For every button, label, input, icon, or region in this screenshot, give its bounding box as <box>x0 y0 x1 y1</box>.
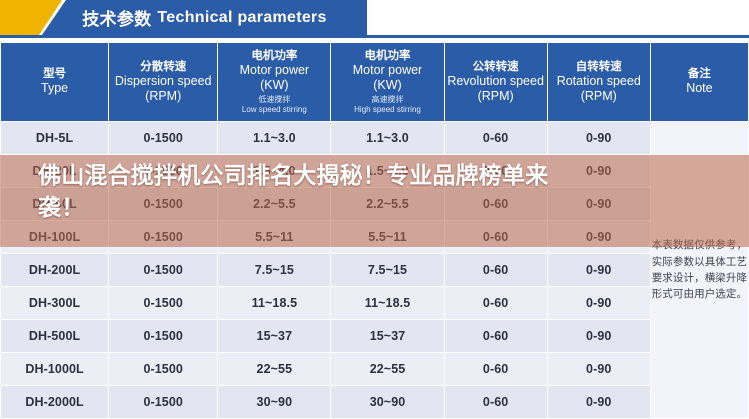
row-cell-motor-power-low: 7.5~15 <box>218 254 330 286</box>
row-cell-type: DH-200L <box>1 254 108 286</box>
row-cell-rotation: 0-90 <box>548 320 650 352</box>
row-cell-revolution: 0-60 <box>445 320 547 352</box>
row-cell-motor-power-low: 5.5~11 <box>218 221 330 253</box>
col-header-revolution-en: Revolution speed <box>445 74 547 89</box>
col-header-type-cn: 型号 <box>1 68 108 81</box>
col-header-note-en: Note <box>651 81 748 96</box>
col-header-dispersion-en: Dispersion speed <box>109 74 217 89</box>
row-cell-rotation: 0-90 <box>548 122 650 154</box>
col-header-motor-power-low-sub-en: Low speed stirring <box>218 105 330 114</box>
row-cell-type: DH-100L <box>1 221 108 253</box>
col-header-dispersion-unit: (RPM) <box>109 89 217 104</box>
col-header-type: 型号 Type <box>1 43 108 121</box>
row-cell-motor-power-high: 15~37 <box>331 320 443 352</box>
row-cell-revolution: 0-60 <box>445 386 547 418</box>
row-cell-revolution: 0-60 <box>445 122 547 154</box>
col-header-rotation-unit: (RPM) <box>548 89 650 104</box>
table-row: DH-500L0-150015~3715~370-600-90 <box>1 320 748 352</box>
col-header-rotation-cn: 自转转速 <box>548 61 650 74</box>
banner-blank-area <box>367 0 749 35</box>
row-cell-rotation: 0-90 <box>548 221 650 253</box>
col-header-motor-power-high-sub-en: High speed stirring <box>331 105 443 114</box>
row-cell-dispersion: 0-1500 <box>109 254 217 286</box>
col-header-rotation: 自转转速 Rotation speed (RPM) <box>548 43 650 121</box>
col-header-revolution-cn: 公转转速 <box>445 61 547 74</box>
row-cell-type: DH-300L <box>1 287 108 319</box>
row-cell-motor-power-low: 22~55 <box>218 353 330 385</box>
col-header-motor-power-high-sub-cn: 高速搅拌 <box>331 95 443 104</box>
col-header-revolution: 公转转速 Revolution speed (RPM) <box>445 43 547 121</box>
row-cell-motor-power-low: 11~18.5 <box>218 287 330 319</box>
col-header-motor-power-low-unit: (KW) <box>218 78 330 93</box>
row-cell-motor-power-low: 30~90 <box>218 386 330 418</box>
table-row: DH-2000L0-150030~9030~900-600-90 <box>1 386 748 418</box>
col-header-revolution-unit: (RPM) <box>445 89 547 104</box>
row-cell-dispersion: 0-1500 <box>109 353 217 385</box>
col-header-dispersion-cn: 分散转速 <box>109 61 217 74</box>
parameters-table-wrap: 型号 Type 分散转速 Dispersion speed (RPM) 电机功率… <box>0 42 749 419</box>
section-banner: 技术参数 Technical parameters <box>0 0 749 35</box>
row-cell-motor-power-high: 22~55 <box>331 353 443 385</box>
row-cell-revolution: 0-60 <box>445 353 547 385</box>
row-cell-rotation: 0-90 <box>548 254 650 286</box>
row-cell-dispersion: 0-1500 <box>109 320 217 352</box>
row-cell-revolution: 0-60 <box>445 287 547 319</box>
table-row: DH-300L0-150011~18.511~18.50-600-90 <box>1 287 748 319</box>
row-cell-motor-power-high: 5.5~11 <box>331 221 443 253</box>
row-cell-rotation: 0-90 <box>548 353 650 385</box>
parameters-table: 型号 Type 分散转速 Dispersion speed (RPM) 电机功率… <box>0 42 749 419</box>
row-cell-dispersion: 0-1500 <box>109 287 217 319</box>
row-cell-rotation: 0-90 <box>548 287 650 319</box>
banner-title: 技术参数 Technical parameters <box>42 0 367 35</box>
row-cell-type: DH-500L <box>1 320 108 352</box>
col-header-motor-power-high-unit: (KW) <box>331 78 443 93</box>
table-row: DH-200L0-15007.5~157.5~150-600-90 <box>1 254 748 286</box>
promo-overlay-line2: 袭！ <box>38 194 84 220</box>
col-header-motor-power-low: 电机功率 Motor power (KW) 低速搅拌 Low speed sti… <box>218 43 330 121</box>
table-header: 型号 Type 分散转速 Dispersion speed (RPM) 电机功率… <box>1 43 748 121</box>
row-cell-dispersion: 0-1500 <box>109 386 217 418</box>
banner-underline <box>0 35 749 38</box>
row-cell-motor-power-high: 7.5~15 <box>331 254 443 286</box>
banner-blue-plate: 技术参数 Technical parameters <box>42 0 367 35</box>
table-row: DH-100L0-15005.5~115.5~110-600-90 <box>1 221 748 253</box>
row-cell-rotation: 0-90 <box>548 386 650 418</box>
row-cell-type: DH-2000L <box>1 386 108 418</box>
col-header-type-en: Type <box>1 81 108 96</box>
col-header-motor-power-low-cn: 电机功率 <box>218 50 330 63</box>
banner-title-cn: 技术参数 <box>82 5 151 30</box>
page-root: 技术参数 Technical parameters 型号 Type 分散转速 <box>0 0 749 400</box>
col-header-motor-power-low-sub-cn: 低速搅拌 <box>218 95 330 104</box>
row-cell-motor-power-low: 15~37 <box>218 320 330 352</box>
table-row: DH-5L0-15001.1~3.01.1~3.00-600-90本表数据仅供参… <box>1 122 748 154</box>
row-cell-motor-power-high: 1.1~3.0 <box>331 122 443 154</box>
col-header-motor-power-high-en: Motor power <box>331 63 443 78</box>
col-header-rotation-en: Rotation speed <box>548 74 650 89</box>
col-header-motor-power-high: 电机功率 Motor power (KW) 高速搅拌 High speed st… <box>331 43 443 121</box>
col-header-motor-power-high-cn: 电机功率 <box>331 50 443 63</box>
row-cell-type: DH-1000L <box>1 353 108 385</box>
col-header-note: 备注 Note <box>651 43 748 121</box>
row-cell-type: DH-5L <box>1 122 108 154</box>
row-cell-motor-power-high: 11~18.5 <box>331 287 443 319</box>
promo-overlay-line1: 佛山混合搅拌机公司排名大揭秘！专业品牌榜单来 <box>38 162 548 188</box>
banner-title-en: Technical parameters <box>157 9 326 27</box>
row-cell-dispersion: 0-1500 <box>109 221 217 253</box>
row-cell-revolution: 0-60 <box>445 254 547 286</box>
row-cell-dispersion: 0-1500 <box>109 122 217 154</box>
col-header-motor-power-low-en: Motor power <box>218 63 330 78</box>
table-row: DH-1000L0-150022~5522~550-600-90 <box>1 353 748 385</box>
row-cell-revolution: 0-60 <box>445 221 547 253</box>
col-header-note-cn: 备注 <box>651 68 748 81</box>
col-header-dispersion: 分散转速 Dispersion speed (RPM) <box>109 43 217 121</box>
promo-overlay-text: 佛山混合搅拌机公司排名大揭秘！专业品牌榜单来 袭！ <box>0 160 749 223</box>
row-cell-motor-power-low: 1.1~3.0 <box>218 122 330 154</box>
table-header-row: 型号 Type 分散转速 Dispersion speed (RPM) 电机功率… <box>1 43 748 121</box>
row-cell-motor-power-high: 30~90 <box>331 386 443 418</box>
